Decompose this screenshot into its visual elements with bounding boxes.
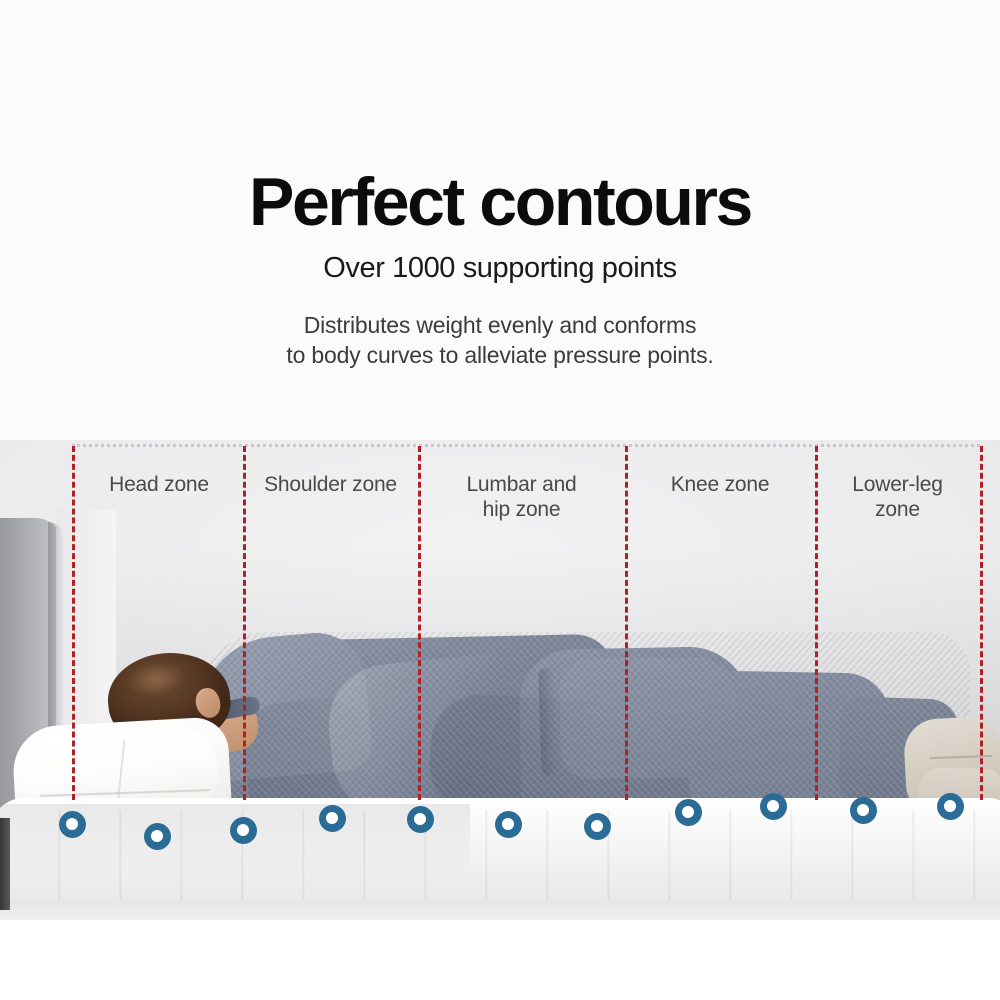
support-point-dot [319,805,346,832]
support-point-dot [675,799,702,826]
text-panel: Perfect contours Over 1000 supporting po… [0,0,1000,440]
support-point-dot [495,811,522,838]
support-point-dot [230,817,257,844]
support-point-dot [144,823,171,850]
product-feature-banner: Perfect contours Over 1000 supporting po… [0,0,1000,1000]
mattress-base [0,900,1000,920]
description-line-1: Distributes weight evenly and conforms [0,310,1000,340]
support-point-dot [850,797,877,824]
description: Distributes weight evenly and conforms t… [0,310,1000,370]
support-point-dot [407,806,434,833]
bed-frame-edge [0,818,10,910]
page-title: Perfect contours [0,168,1000,236]
support-point-dot [760,793,787,820]
subtitle: Over 1000 supporting points [0,253,1000,285]
description-line-2: to body curves to alleviate pressure poi… [0,340,1000,370]
support-point-dot [59,811,86,838]
support-point-dot [937,793,964,820]
support-point-dot [584,813,611,840]
